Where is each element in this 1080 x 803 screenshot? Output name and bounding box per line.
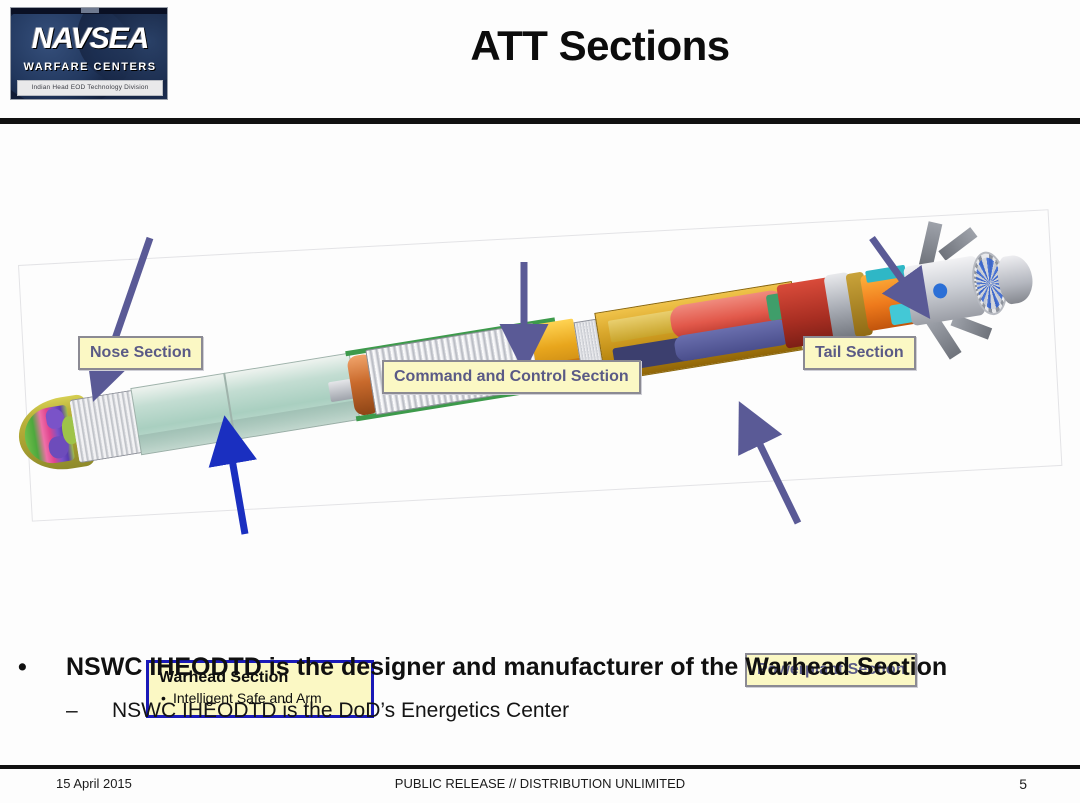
callout-command-and-control-section[interactable]: Command and Control Section: [382, 360, 641, 394]
page-title: ATT Sections: [170, 22, 1030, 70]
footer-divider: [0, 765, 1080, 769]
logo-tick-mark: [81, 8, 99, 13]
bullet-level-2-text: NSWC IHEODTD is the DoD’s Energetics Cen…: [112, 696, 1046, 726]
logo-wordmark: NAVSEA: [11, 24, 168, 54]
navsea-logo: NAVSEA WARFARE CENTERS Indian Head EOD T…: [10, 7, 168, 100]
footer-classification: PUBLIC RELEASE // DISTRIBUTION UNLIMITED: [0, 776, 1080, 791]
sub-bullet-marker: –: [66, 696, 78, 726]
bullet-level-1-text: NSWC IHEODTD is the designer and manufac…: [66, 650, 1058, 684]
slide-footer: 15 April 2015 PUBLIC RELEASE // DISTRIBU…: [0, 772, 1080, 803]
callout-tail-section[interactable]: Tail Section: [803, 336, 916, 370]
bullet-level-2: – NSWC IHEODTD is the DoD’s Energetics C…: [66, 696, 1046, 726]
logo-subtitle: WARFARE CENTERS: [11, 61, 168, 73]
torpedo-figure: Nose Section Command and Control Section…: [0, 130, 1080, 630]
logo-division-text: Indian Head EOD Technology Division: [18, 81, 162, 95]
slide: NAVSEA WARFARE CENTERS Indian Head EOD T…: [0, 0, 1080, 803]
bullet-marker: •: [18, 650, 27, 684]
logo-division-strip: Indian Head EOD Technology Division: [17, 80, 163, 96]
header-divider: [0, 118, 1080, 124]
footer-page-number: 5: [1019, 776, 1027, 792]
callout-nose-section[interactable]: Nose Section: [78, 336, 203, 370]
slide-header: NAVSEA WARFARE CENTERS Indian Head EOD T…: [0, 0, 1080, 122]
bullet-level-1: • NSWC IHEODTD is the designer and manuf…: [18, 650, 1058, 684]
